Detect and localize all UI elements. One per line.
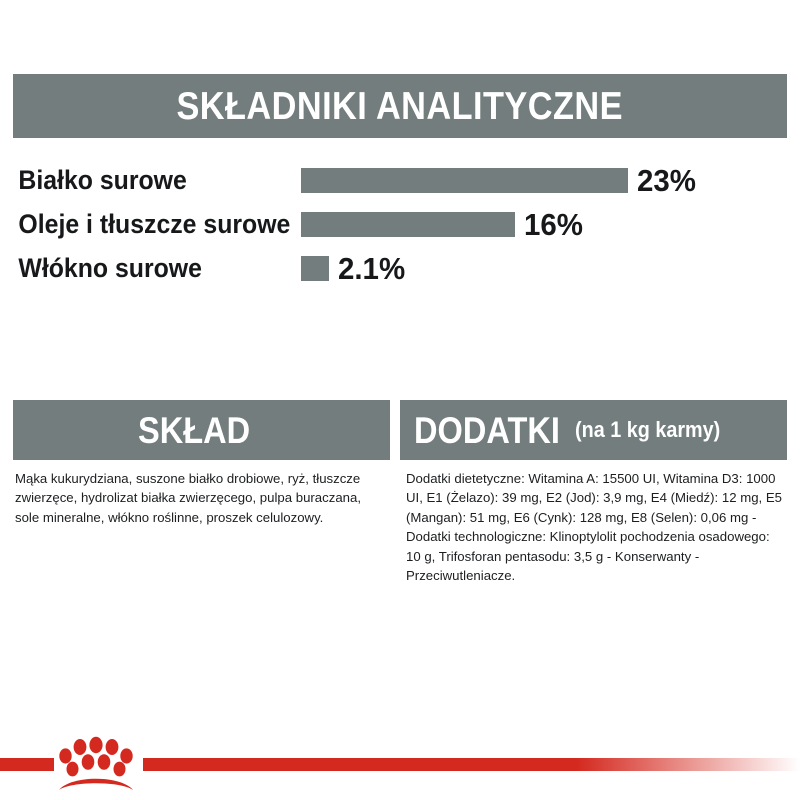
chart-value-label: 23%	[637, 165, 696, 196]
chart-bar-group: 2.1%	[301, 253, 409, 284]
chart-row-label: Białko surowe	[0, 167, 252, 194]
footer-brand-stripe	[0, 736, 800, 800]
chart-value-label: 2.1%	[338, 253, 405, 284]
chart-row: Białko surowe 23%	[0, 158, 800, 202]
chart-row: Oleje i tłuszcze surowe 16%	[0, 202, 800, 246]
additives-heading-bar: DODATKI (na 1 kg karmy)	[400, 400, 787, 460]
chart-row: Włókno surowe 2.1%	[0, 246, 800, 290]
chart-bar	[301, 212, 515, 237]
composition-heading-text: SKŁAD	[138, 412, 250, 449]
composition-body-text: Mąka kukurydziana, suszone białko drobio…	[13, 469, 390, 527]
composition-column: SKŁAD Mąka kukurydziana, suszone białko …	[13, 400, 390, 527]
chart-row-label: Oleje i tłuszcze surowe	[0, 211, 252, 238]
chart-bar	[301, 168, 628, 193]
footer-stripe-right	[143, 758, 800, 771]
additives-column: DODATKI (na 1 kg karmy) Dodatki dietetyc…	[400, 400, 787, 585]
additives-heading-text: DODATKI	[414, 412, 560, 449]
chart-bar-group: 23%	[301, 165, 699, 196]
additives-body-text: Dodatki dietetyczne: Witamina A: 15500 U…	[400, 469, 787, 585]
chart-bar	[301, 256, 329, 281]
composition-heading-bar: SKŁAD	[13, 400, 390, 460]
analytical-constituents-banner: SKŁADNIKI ANALITYCZNE	[13, 74, 787, 138]
royal-canin-crown-icon	[55, 736, 137, 794]
chart-row-label: Włókno surowe	[0, 255, 252, 282]
chart-value-label: 16%	[524, 209, 583, 240]
additives-heading-subtext: (na 1 kg karmy)	[575, 419, 720, 441]
footer-stripe-left	[0, 758, 54, 771]
chart-bar-group: 16%	[301, 209, 586, 240]
analytical-constituents-title: SKŁADNIKI ANALITYCZNE	[177, 87, 623, 126]
analytical-constituents-chart: Białko surowe 23% Oleje i tłuszcze surow…	[0, 158, 800, 290]
